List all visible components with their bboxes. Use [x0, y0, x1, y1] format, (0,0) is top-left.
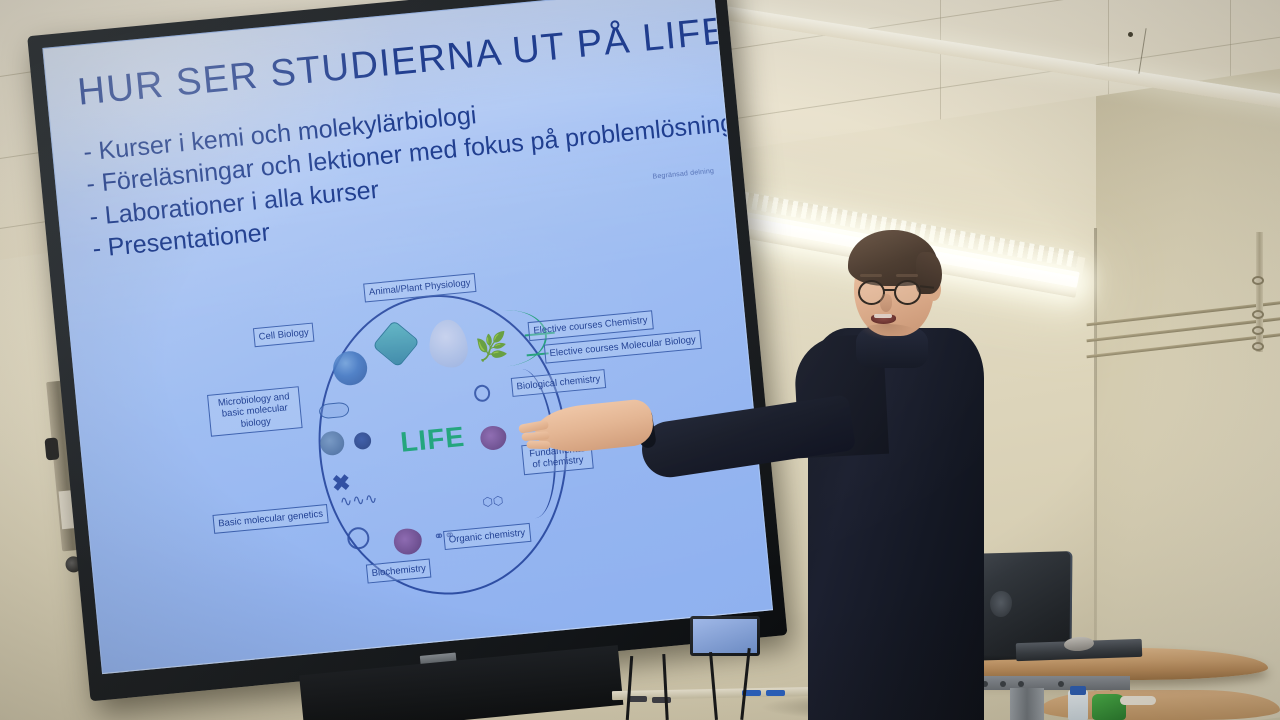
presentation-slide: HUR SER STUDIERNA UT PÅ LIFE SCIENCE-PRO…	[43, 0, 772, 673]
presenter-finger	[521, 431, 549, 441]
label-cell-biology[interactable]: Cell Biology	[253, 323, 315, 347]
whiteboard-marker[interactable]	[652, 697, 671, 703]
rail-hook-icon	[1252, 310, 1264, 319]
bottle-cap	[1070, 686, 1086, 695]
white-object	[1120, 696, 1156, 705]
eyeglasses-icon	[894, 280, 921, 305]
whiteboard-marker[interactable]	[628, 696, 647, 702]
display-bezel: HUR SER STUDIERNA UT PÅ LIFE SCIENCE-PRO…	[27, 0, 787, 701]
presenter-jaw-shadow	[858, 324, 916, 340]
wall-mounted-touchscreen[interactable]: HUR SER STUDIERNA UT PÅ LIFE SCIENCE-PRO…	[0, 0, 809, 720]
presenter-finger	[526, 440, 550, 449]
chromosome-icon: ✖	[331, 472, 351, 496]
slide-bullet-list: - Kurser i kemi och molekylärbiologi - F…	[82, 78, 704, 266]
presenter	[770, 232, 1070, 720]
label-basic-molecular-genetics[interactable]: Basic molecular genetics	[212, 504, 328, 533]
life-center-label: LIFE	[399, 421, 466, 459]
ceiling-grid-line	[1230, 0, 1231, 76]
benzene-ring-icon: ⬡⬡	[482, 493, 504, 509]
rail-hook-icon	[1252, 326, 1264, 335]
presenter-nose	[880, 294, 892, 312]
dna-icon: ∿∿∿	[339, 491, 378, 510]
ceiling-grid-line	[940, 0, 941, 120]
label-microbiology-basic-molecular-biology[interactable]: Microbiology and basic molecular biology	[207, 386, 303, 436]
presenter-eyebrow	[860, 274, 882, 277]
room-photo-scene: HUR SER STUDIERNA UT PÅ LIFE SCIENCE-PRO…	[0, 0, 1280, 720]
display-screen[interactable]: HUR SER STUDIERNA UT PÅ LIFE SCIENCE-PRO…	[42, 0, 773, 674]
eyeglasses-bridge	[884, 289, 895, 291]
right-wall	[1096, 0, 1280, 720]
presenter-eyebrow	[896, 274, 918, 277]
rail-hook-icon	[1252, 276, 1264, 285]
presenter-teeth	[874, 314, 892, 318]
rail-hook-icon	[1252, 342, 1264, 351]
display-mount-knob	[44, 437, 59, 460]
ceiling-sensor	[1128, 32, 1133, 37]
